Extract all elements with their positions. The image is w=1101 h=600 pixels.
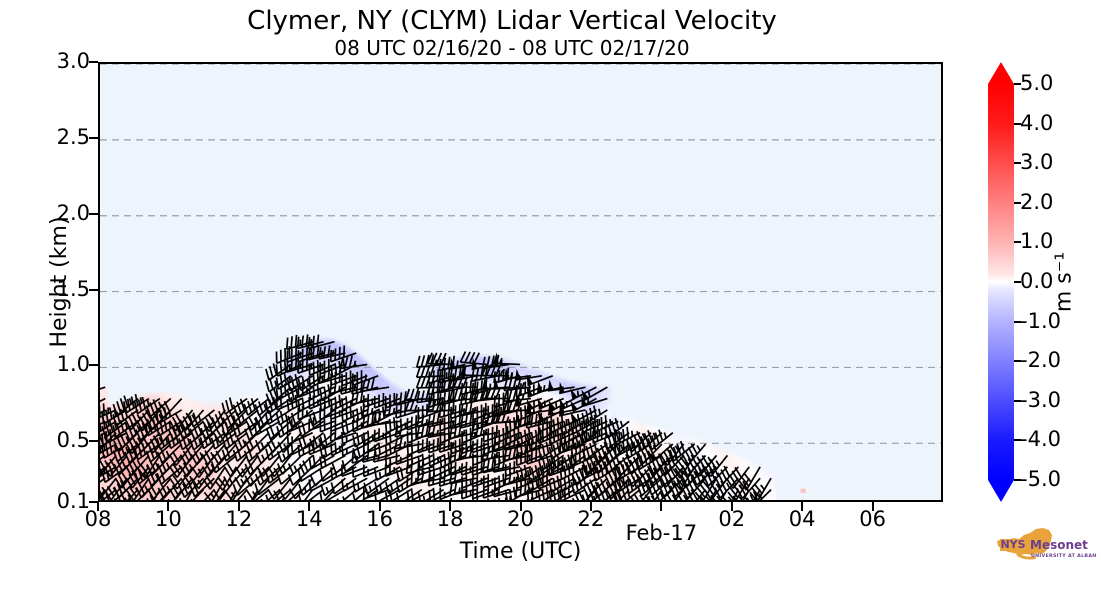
x-tick-mark bbox=[520, 502, 522, 511]
colorbar-tick-label: -3.0 bbox=[1020, 388, 1061, 412]
x-tick-mark bbox=[449, 502, 451, 511]
colorbar-tick-mark bbox=[1014, 439, 1021, 441]
colorbar-tick-label: 4.0 bbox=[1020, 111, 1053, 135]
colorbar-tick-mark bbox=[1014, 400, 1021, 402]
x-tick-mark bbox=[238, 502, 240, 511]
wind-barb bbox=[100, 377, 105, 396]
x-tick-mark bbox=[872, 502, 874, 511]
x-tick-mark bbox=[97, 502, 99, 511]
colorbar-extend-top-arrow bbox=[988, 62, 1014, 84]
y-tick-label: 0.5 bbox=[40, 428, 90, 452]
y-tick-mark bbox=[89, 213, 98, 215]
chart-title: Clymer, NY (CLYM) Lidar Vertical Velocit… bbox=[0, 6, 1024, 36]
y-tick-mark bbox=[89, 289, 98, 291]
colorbar-tick-mark bbox=[1014, 479, 1021, 481]
chart-subtitle: 08 UTC 02/16/20 - 08 UTC 02/17/20 bbox=[0, 36, 1024, 60]
logo-tagline-text: UNIVERSITY AT ALBANY bbox=[1031, 553, 1097, 559]
logo-mesonet-text: Mesonet bbox=[1030, 538, 1088, 552]
y-tick-label: 3.0 bbox=[40, 49, 90, 73]
colorbar-tick-label: -4.0 bbox=[1020, 427, 1061, 451]
colorbar-extend-bottom-arrow bbox=[988, 480, 1014, 502]
x-tick-mark bbox=[379, 502, 381, 511]
colorbar-tick-mark bbox=[1014, 360, 1021, 362]
y-tick-label: 1.0 bbox=[40, 352, 90, 376]
colorbar-tick-label: -5.0 bbox=[1020, 467, 1061, 491]
colorbar-tick-label: 2.0 bbox=[1020, 190, 1053, 214]
wind-barb bbox=[179, 495, 203, 502]
x-tick-mark bbox=[801, 502, 803, 511]
plot-area bbox=[98, 62, 943, 502]
colorbar-tick-label: 5.0 bbox=[1020, 71, 1053, 95]
colorbar-tick-label: 3.0 bbox=[1020, 150, 1053, 174]
colorbar-tick-label: 0.0 bbox=[1020, 269, 1053, 293]
colorbar-tick-label: -1.0 bbox=[1020, 309, 1061, 333]
colorbar-tick-mark bbox=[1014, 123, 1021, 125]
wind-barb bbox=[611, 423, 640, 445]
y-tick-mark bbox=[89, 440, 98, 442]
y-tick-mark bbox=[89, 61, 98, 63]
colorbar-tick-mark bbox=[1014, 241, 1021, 243]
y-tick-label: 2.0 bbox=[40, 201, 90, 225]
colorbar bbox=[988, 62, 1014, 502]
colorbar-tick-label: -2.0 bbox=[1020, 348, 1061, 372]
logo-nys-text: NYS bbox=[1000, 538, 1025, 551]
chart-figure: Clymer, NY (CLYM) Lidar Vertical Velocit… bbox=[0, 0, 1101, 600]
y-tick-mark bbox=[89, 137, 98, 139]
colorbar-unit-label: m s⁻¹ bbox=[1052, 252, 1077, 312]
wind-barb bbox=[189, 494, 214, 502]
wind-barb bbox=[144, 482, 171, 502]
y-tick-label: 2.5 bbox=[40, 125, 90, 149]
colorbar-tick-mark bbox=[1014, 202, 1021, 204]
x-tick-mark bbox=[308, 502, 310, 511]
y-tick-mark bbox=[89, 364, 98, 366]
colorbar-tick-label: 1.0 bbox=[1020, 229, 1053, 253]
wind-barbs bbox=[100, 64, 943, 502]
y-tick-label: 1.5 bbox=[40, 277, 90, 301]
colorbar-tick-mark bbox=[1014, 321, 1021, 323]
colorbar-gradient bbox=[988, 84, 1014, 480]
colorbar-tick-mark bbox=[1014, 83, 1021, 85]
x-tick-mark bbox=[590, 502, 592, 511]
x-axis-label: Time (UTC) bbox=[98, 539, 943, 564]
wind-barb bbox=[578, 388, 607, 407]
wind-barb bbox=[493, 352, 520, 364]
x-tick-mark bbox=[731, 502, 733, 511]
colorbar-tick-mark bbox=[1014, 281, 1021, 283]
colorbar-tick-mark bbox=[1014, 162, 1021, 164]
nys-mesonet-logo: NYS Mesonet UNIVERSITY AT ALBANY bbox=[993, 524, 1097, 566]
x-tick-mark bbox=[660, 502, 662, 511]
x-tick-mark bbox=[167, 502, 169, 511]
